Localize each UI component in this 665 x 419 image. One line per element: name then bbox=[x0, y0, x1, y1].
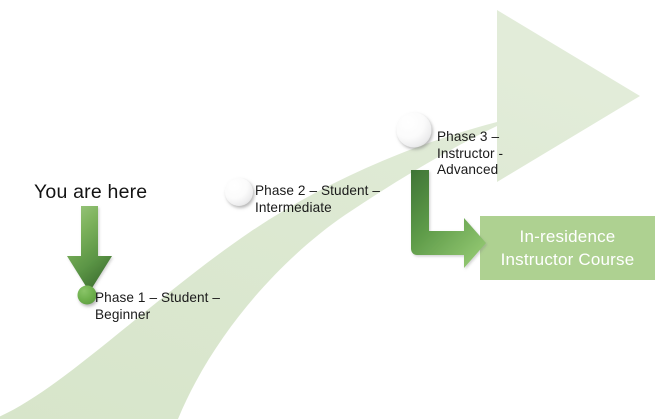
phase-2-label: Phase 2 – Student – Intermediate bbox=[255, 183, 415, 216]
outcome-box-label: In-residence Instructor Course bbox=[480, 216, 655, 280]
phase-1-label: Phase 1 – Student – Beginner bbox=[95, 290, 255, 323]
outcome-box-line-1: In-residence bbox=[520, 225, 616, 248]
diagram-canvas: You are here Phase 1 – Student – Beginne… bbox=[0, 0, 665, 419]
phase-3-label: Phase 3 – Instructor - Advanced bbox=[437, 129, 557, 179]
elbow-arrow-right-icon bbox=[411, 170, 486, 268]
arrow-down-icon bbox=[67, 206, 112, 292]
phase-1-marker-icon bbox=[78, 286, 97, 305]
you-are-here-annotation: You are here bbox=[34, 181, 147, 205]
phase-2-marker-icon bbox=[225, 178, 253, 206]
outcome-box-line-2: Instructor Course bbox=[501, 248, 635, 271]
phase-3-marker-icon bbox=[397, 113, 432, 148]
